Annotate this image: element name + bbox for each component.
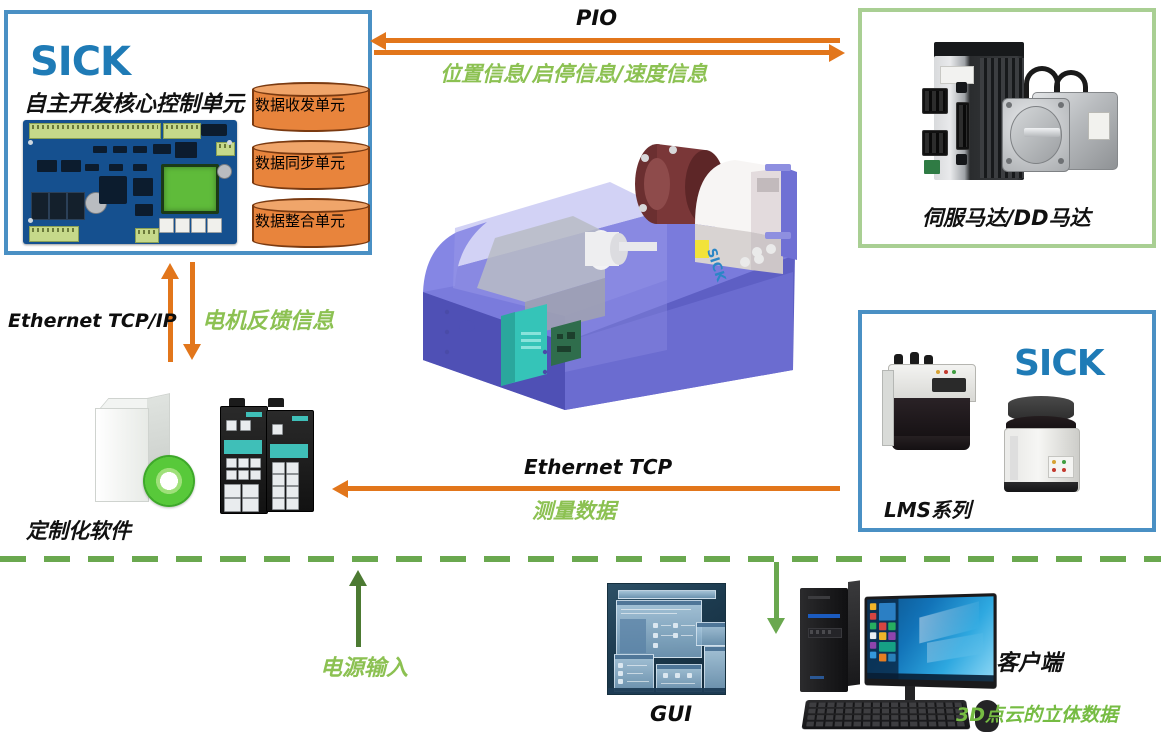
data-unit-cylinder: 数据收发单元	[252, 82, 370, 132]
pio-arrow-right-line	[374, 50, 829, 55]
gui-label: GUI	[650, 702, 692, 726]
tcp-payload-label: 测量数据	[532, 495, 616, 525]
client-sub-label: 3D点云的立体数据	[956, 700, 1118, 727]
core-controller-pcb-image	[23, 120, 237, 244]
data-unit-label: 数据收发单元	[252, 94, 379, 115]
lms-sensor-panel: SICK LMS系列	[858, 310, 1156, 532]
power-arrow-head	[349, 570, 367, 586]
tcpip-payload-label: 电机反馈信息	[202, 303, 334, 335]
data-unit-cylinder: 数据整合单元	[252, 198, 370, 248]
scanner-machine-svg: SICK	[405, 120, 845, 440]
tcpip-protocol-label: Ethernet TCP/IP	[8, 310, 177, 332]
tcpip-arrow-down-head	[183, 344, 201, 360]
pio-arrow-left-line	[385, 38, 840, 43]
core-control-unit-panel: SICK 自主开发核心控制单元	[4, 10, 372, 255]
power-input-label: 电源输入	[320, 650, 408, 682]
client-label: 客户端	[996, 645, 1062, 677]
data-unit-label: 数据整合单元	[252, 210, 379, 231]
servo-motor-panel: 伺服马达/DD马达	[858, 8, 1156, 248]
cd-disc-icon	[143, 455, 195, 507]
lms-series-label: LMS系列	[884, 494, 971, 523]
gui-screenshot-image	[607, 583, 726, 695]
custom-software-label: 定制化软件	[26, 515, 131, 545]
section-divider	[0, 556, 1161, 562]
tcpip-arrow-up-head	[161, 263, 179, 279]
tcpip-arrow-down-line	[190, 262, 195, 346]
data-unit-label: 数据同步单元	[252, 152, 379, 173]
pio-arrow-right-head	[829, 44, 845, 62]
servo-motor-label: 伺服马达/DD马达	[922, 202, 1091, 232]
tcp-arrow-head	[332, 480, 348, 498]
pio-protocol-label: PIO	[576, 6, 617, 30]
sick-logo: SICK	[1014, 346, 1104, 382]
control-unit-title: 自主开发核心控制单元	[24, 86, 244, 118]
sick-logo: SICK	[30, 42, 130, 82]
data-unit-cylinder: 数据同步单元	[252, 140, 370, 190]
tcp-arrow-line	[348, 486, 840, 491]
pio-payload-label: 位置信息/启停信息/速度信息	[440, 58, 707, 88]
scanner-machine-image: SICK	[405, 120, 845, 440]
power-arrow-line	[356, 585, 361, 647]
gui-download-arrow-line	[774, 562, 779, 620]
pio-arrow-left-head	[370, 32, 386, 50]
tcp-protocol-label: Ethernet TCP	[524, 455, 672, 479]
gui-download-arrow-head	[767, 618, 785, 634]
